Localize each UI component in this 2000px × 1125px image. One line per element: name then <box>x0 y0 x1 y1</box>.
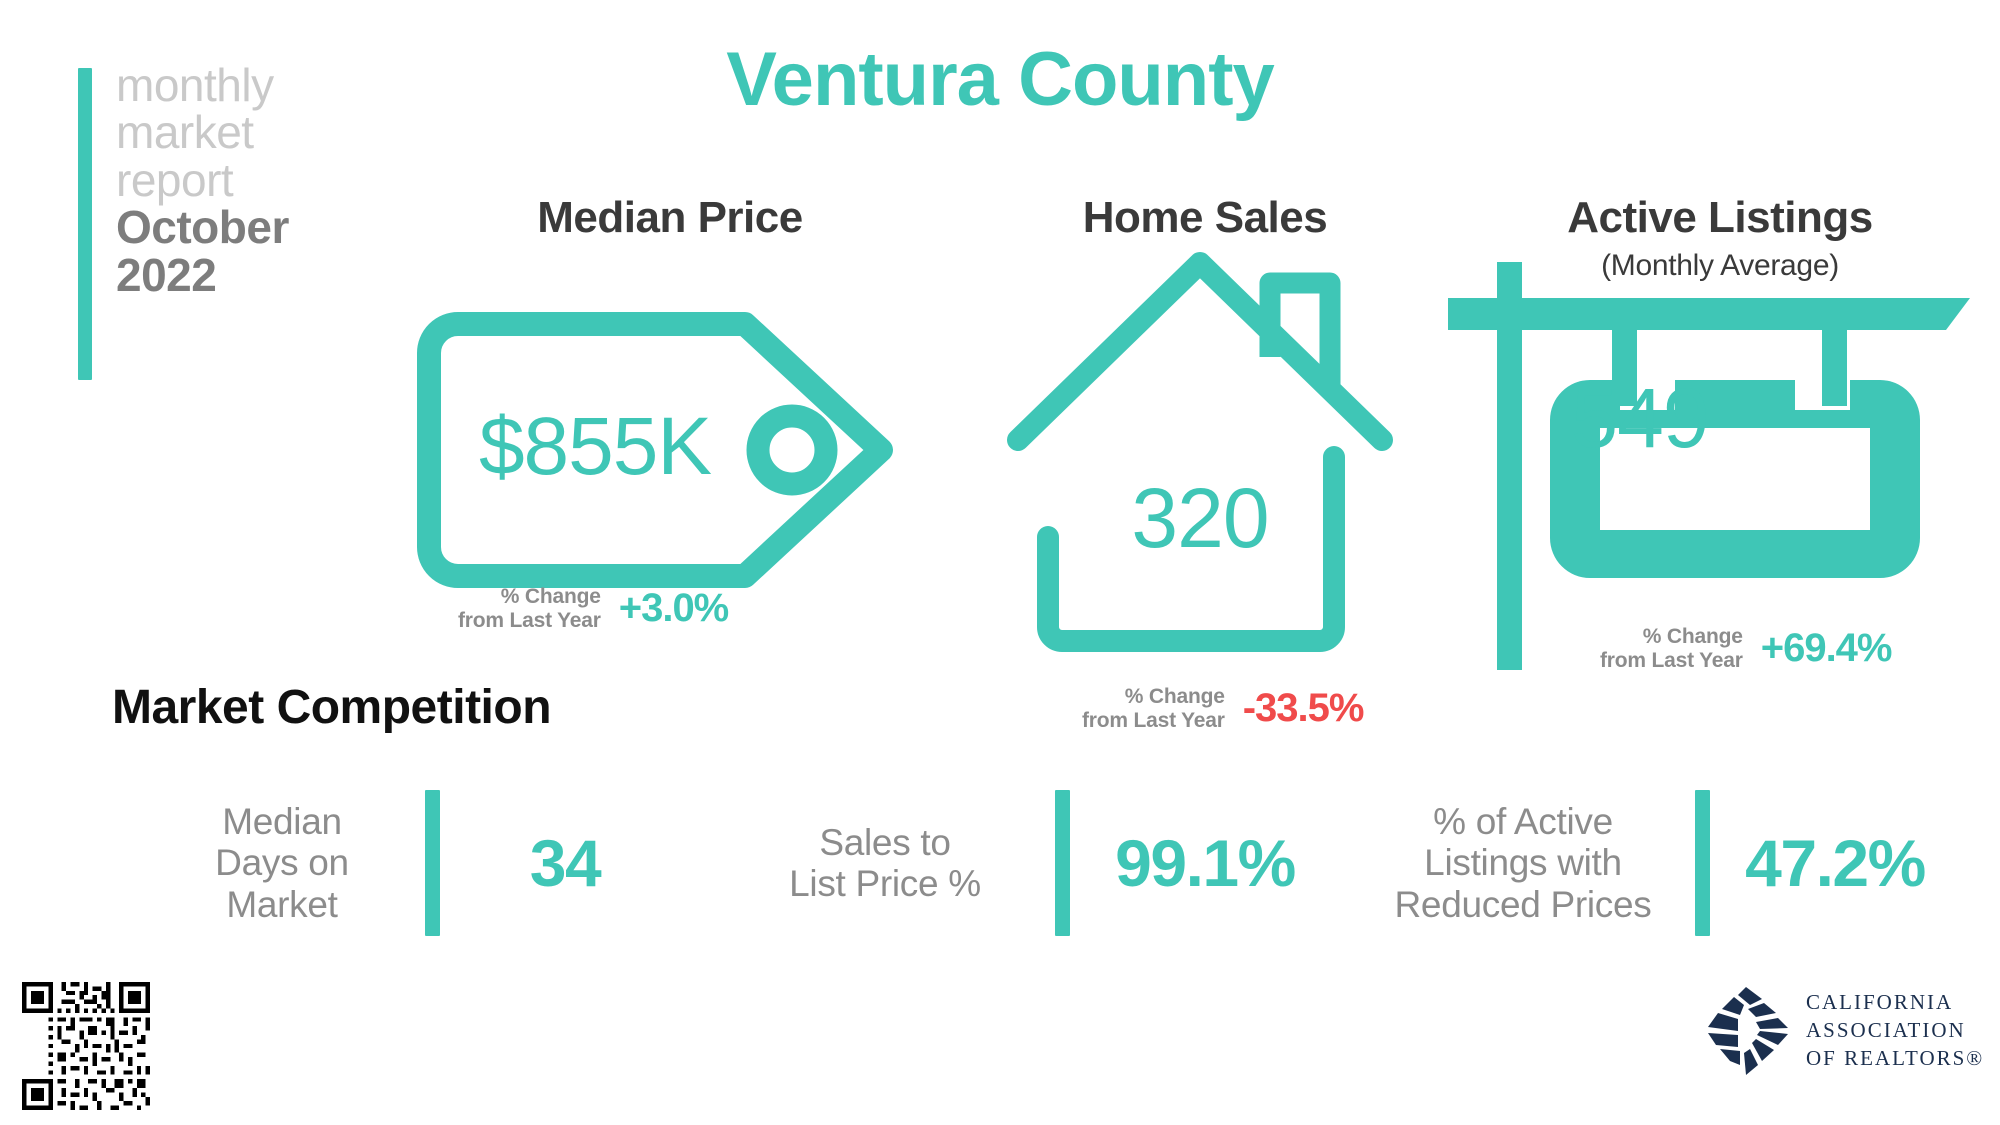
logo-line-of-realtors: OF REALTORS® <box>1806 1045 1984 1073</box>
metric-median-days-on-market: Median Days on Market <box>60 790 440 936</box>
median-price-value: $855K <box>415 400 775 494</box>
median-price-change-value: +3.0% <box>619 586 729 631</box>
logo-line-association: ASSOCIATION <box>1806 1017 1984 1045</box>
report-line-report: report <box>116 157 358 204</box>
report-year: 2022 <box>116 252 358 299</box>
california-association-of-realtors-logo: CALIFORNIA ASSOCIATION OF REALTORS® <box>1700 985 1984 1077</box>
reduced-prices-label: % of Active Listings with Reduced Prices <box>1373 801 1673 925</box>
report-month: October <box>116 204 358 251</box>
active-listings-change: % Change from Last Year +69.4% <box>1600 625 1892 672</box>
active-listings-change-label: % Change from Last Year <box>1600 625 1743 672</box>
median-price-heading: Median Price <box>420 193 920 243</box>
page-title: Ventura County <box>0 36 2000 123</box>
home-sales-change-value: -33.5% <box>1243 686 1364 731</box>
divider-bar-1 <box>425 790 440 936</box>
market-competition-row: Median Days on Market 34 Sales to List P… <box>60 790 1960 936</box>
house-icon <box>1000 245 1400 685</box>
median-days-on-market-label: Median Days on Market <box>167 801 397 925</box>
home-sales-heading: Home Sales <box>955 193 1455 243</box>
median-days-on-market-value: 34 <box>440 825 690 901</box>
home-sales-change: % Change from Last Year -33.5% <box>1082 685 1363 732</box>
logo-line-california: CALIFORNIA <box>1806 989 1984 1017</box>
reduced-prices-value: 47.2% <box>1710 825 1960 901</box>
qr-code[interactable] <box>22 982 150 1110</box>
divider-bar-2 <box>1055 790 1070 936</box>
active-listings-value: 549 <box>1475 370 1805 467</box>
home-sales-value: 320 <box>1000 470 1400 567</box>
metric-sales-to-list-price: Sales to List Price % <box>690 790 1070 936</box>
median-price-change-label: % Change from Last Year <box>458 585 601 632</box>
sales-to-list-price-value: 99.1% <box>1070 825 1340 901</box>
market-competition-title: Market Competition <box>112 680 551 735</box>
car-logo-text: CALIFORNIA ASSOCIATION OF REALTORS® <box>1806 989 1984 1072</box>
median-price-change: % Change from Last Year +3.0% <box>458 585 728 632</box>
divider-bar-3 <box>1695 790 1710 936</box>
sales-to-list-price-label: Sales to List Price % <box>755 822 1015 905</box>
car-logo-mark-icon <box>1700 985 1792 1077</box>
active-listings-change-value: +69.4% <box>1761 626 1892 671</box>
metric-reduced-prices: % of Active Listings with Reduced Prices <box>1340 790 1710 936</box>
home-sales-change-label: % Change from Last Year <box>1082 685 1225 732</box>
